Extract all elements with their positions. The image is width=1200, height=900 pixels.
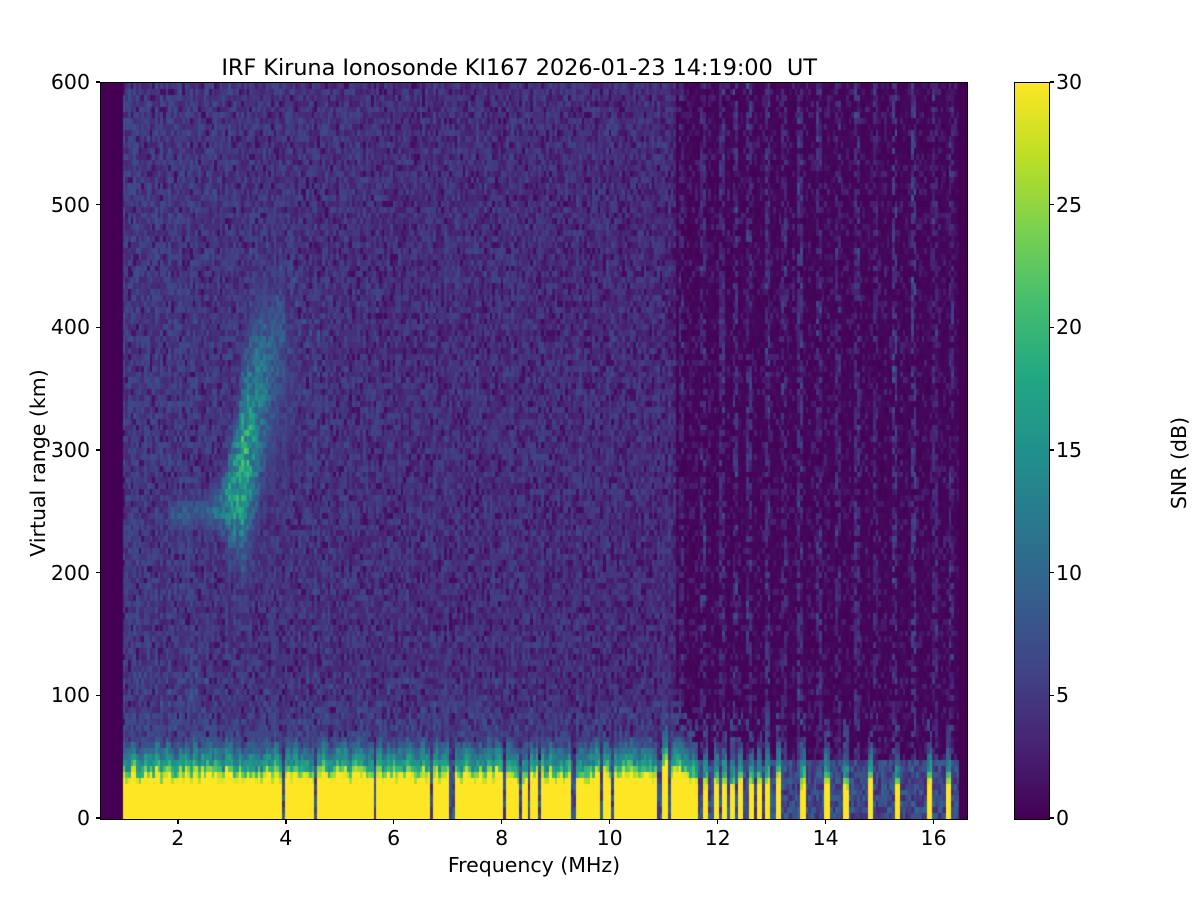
- y-tick-label: 0: [77, 806, 90, 830]
- y-tick-label: 100: [51, 683, 90, 707]
- title-line-1: IRF Kiruna Ionosonde KI167 2026-01-23 14…: [221, 55, 817, 81]
- colorbar-tick-label: 10: [1056, 561, 1082, 585]
- colorbar-tick-mark: [1050, 81, 1055, 83]
- y-tick-label: 600: [51, 70, 90, 94]
- x-tick-mark: [285, 820, 287, 825]
- x-tick-label: 12: [705, 826, 731, 850]
- colorbar-tick-label: 20: [1056, 315, 1082, 339]
- x-tick-label: 2: [171, 826, 184, 850]
- colorbar-tick-label: 30: [1056, 70, 1082, 94]
- x-tick-mark: [177, 820, 179, 825]
- colorbar-title: SNR (dB): [1167, 313, 1191, 613]
- colorbar-tick-mark: [1050, 695, 1055, 697]
- y-tick-label: 500: [51, 193, 90, 217]
- colorbar: [1014, 82, 1050, 820]
- y-axis-title: Virtual range (km): [26, 333, 50, 593]
- y-tick-label: 300: [51, 438, 90, 462]
- x-tick-label: 6: [387, 826, 400, 850]
- x-tick-mark: [825, 820, 827, 825]
- y-tick-mark: [96, 449, 101, 451]
- colorbar-tick-label: 15: [1056, 438, 1082, 462]
- ionogram-heatmap-canvas: [101, 83, 967, 819]
- x-tick-label: 10: [597, 826, 623, 850]
- x-tick-label: 4: [279, 826, 292, 850]
- x-tick-mark: [609, 820, 611, 825]
- colorbar-tick-mark: [1050, 449, 1055, 451]
- y-tick-mark: [96, 817, 101, 819]
- y-tick-mark: [96, 81, 101, 83]
- ionogram-plot-area: [100, 82, 968, 820]
- y-tick-mark: [96, 204, 101, 206]
- x-tick-mark: [501, 820, 503, 825]
- x-tick-mark: [717, 820, 719, 825]
- colorbar-tick-label: 0: [1056, 806, 1069, 830]
- x-tick-label: 8: [495, 826, 508, 850]
- x-tick-mark: [933, 820, 935, 825]
- colorbar-tick-label: 5: [1056, 683, 1069, 707]
- y-tick-label: 200: [51, 561, 90, 585]
- colorbar-tick-mark: [1050, 327, 1055, 329]
- colorbar-gradient: [1015, 83, 1049, 819]
- colorbar-tick-mark: [1050, 204, 1055, 206]
- colorbar-tick-mark: [1050, 817, 1055, 819]
- x-tick-label: 16: [921, 826, 947, 850]
- y-tick-mark: [96, 695, 101, 697]
- x-tick-mark: [393, 820, 395, 825]
- x-tick-label: 14: [813, 826, 839, 850]
- colorbar-tick-mark: [1050, 572, 1055, 574]
- ionogram-figure: IRF Kiruna Ionosonde KI167 2026-01-23 14…: [0, 0, 1200, 900]
- colorbar-tick-label: 25: [1056, 193, 1082, 217]
- y-tick-mark: [96, 572, 101, 574]
- y-tick-label: 400: [51, 315, 90, 339]
- y-tick-mark: [96, 327, 101, 329]
- x-axis-title: Frequency (MHz): [100, 853, 968, 877]
